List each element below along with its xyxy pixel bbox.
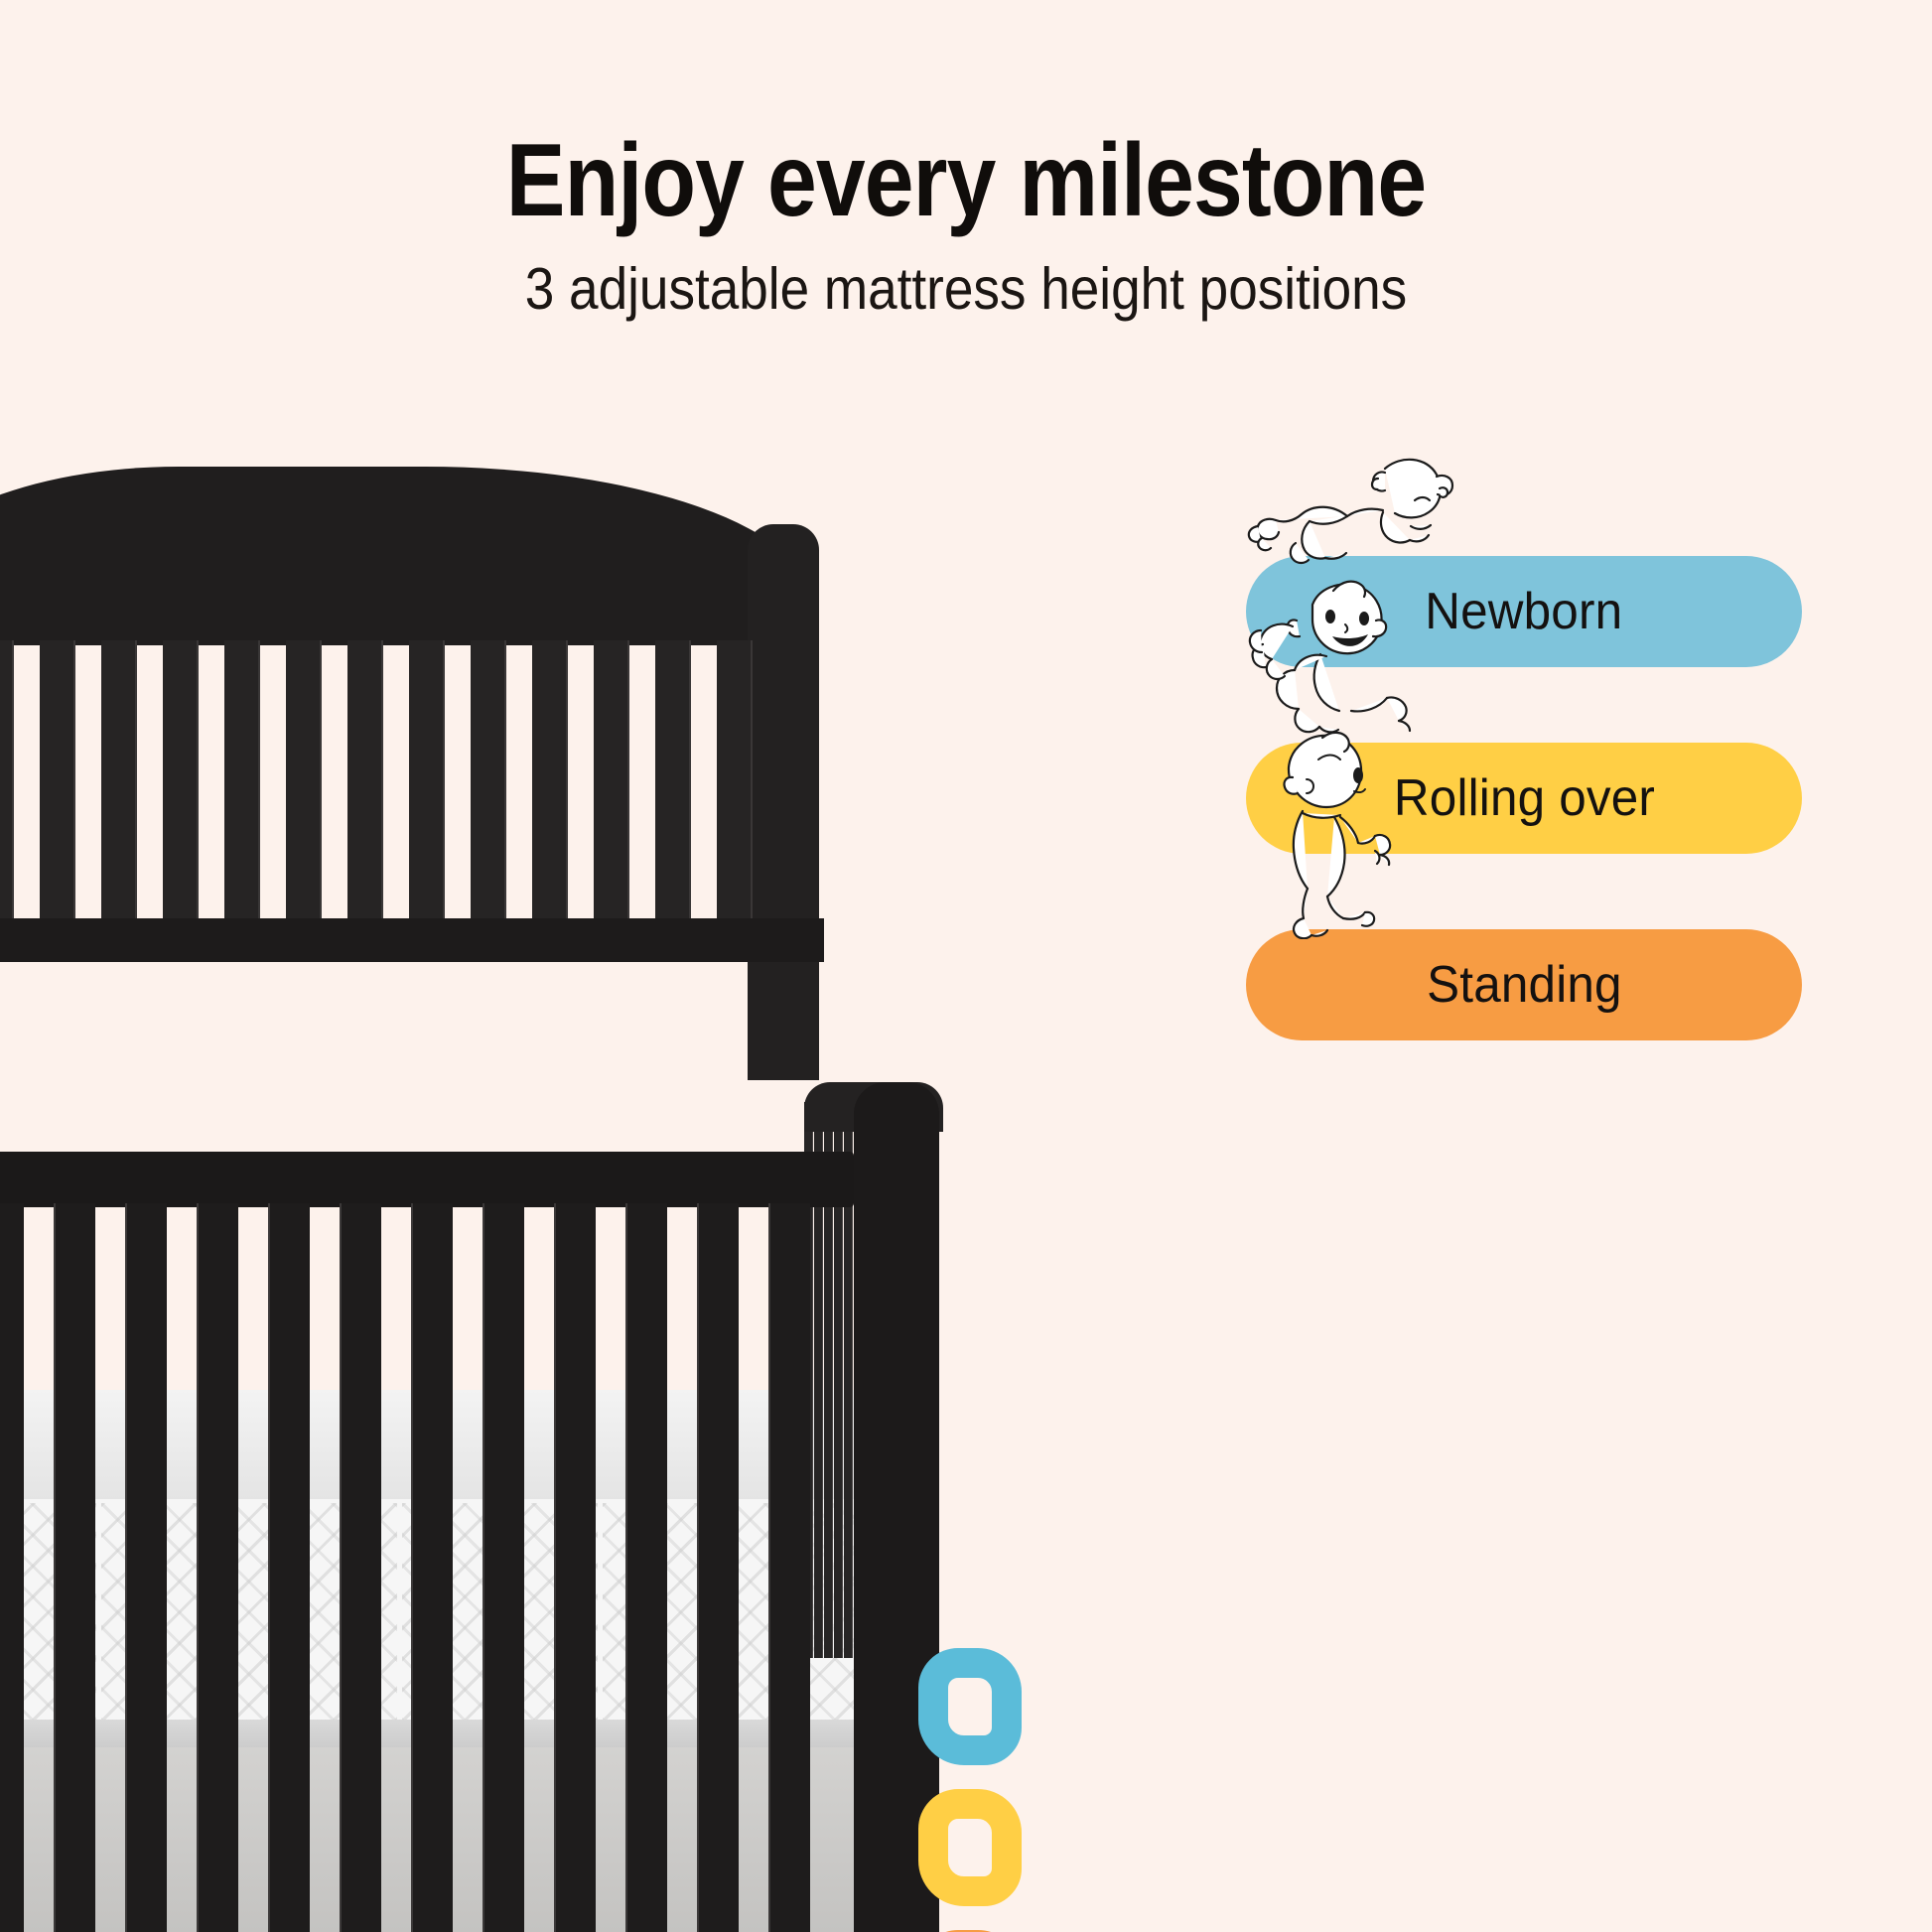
badge-standing[interactable]: Standing (1246, 929, 1802, 1040)
crib-slat (125, 1203, 167, 1932)
crib-slat (625, 1203, 667, 1932)
crib-slat (532, 640, 568, 938)
crib-slat (697, 1203, 739, 1932)
crib-slat (286, 640, 322, 938)
crib-front-top-rail (0, 1152, 854, 1207)
crib-slat (347, 640, 383, 938)
crib-headboard-panel (0, 576, 814, 645)
page-title: Enjoy every milestone (135, 127, 1797, 235)
crib-slat (717, 640, 753, 938)
badge-label-newborn: Newborn (1425, 582, 1622, 641)
crib-slat (409, 640, 445, 938)
milestone-item-standing: Standing (1246, 929, 1802, 1040)
crib-slat (54, 1203, 95, 1932)
milestone-list: Newborn (1246, 556, 1802, 1116)
crib-slat (340, 1203, 381, 1932)
crib-front-slats (0, 1203, 854, 1932)
product-feature-graphic: Enjoy every milestone 3 adjustable mattr… (0, 0, 1932, 1932)
mattress-position-2-marker (918, 1789, 1022, 1906)
crib-slat (197, 1203, 238, 1932)
crib-product-image: DreamOnMe (0, 467, 1052, 1737)
crib-slat (471, 640, 506, 938)
crib-slat (655, 640, 691, 938)
crib-slat (101, 640, 137, 938)
milestone-item-rolling-over: Rolling over (1246, 743, 1802, 854)
crib-slat (768, 1203, 810, 1932)
crib-slat (554, 1203, 596, 1932)
mattress-position-markers (918, 1648, 1042, 1932)
crib-slat (411, 1203, 453, 1932)
badge-label-rolling-over: Rolling over (1393, 768, 1654, 828)
crib-slat (268, 1203, 310, 1932)
crib-slat (163, 640, 199, 938)
header: Enjoy every milestone 3 adjustable mattr… (0, 0, 1932, 322)
crib-back-slats (0, 640, 755, 938)
crib-slat (0, 1203, 24, 1932)
mattress-position-1-marker (918, 1648, 1022, 1765)
crib-slat (483, 1203, 524, 1932)
crib-slat (224, 640, 260, 938)
crib-slat (0, 640, 14, 938)
crib-headboard-post (748, 524, 819, 1080)
badge-label-standing: Standing (1427, 955, 1622, 1015)
crib-slat (594, 640, 629, 938)
badge-newborn[interactable]: Newborn (1246, 556, 1802, 667)
crib-slat (40, 640, 75, 938)
crib-back-rail (0, 918, 824, 962)
page-subtitle: 3 adjustable mattress height positions (96, 257, 1835, 322)
badge-rolling-over[interactable]: Rolling over (1246, 743, 1802, 854)
milestone-item-newborn: Newborn (1246, 556, 1802, 667)
